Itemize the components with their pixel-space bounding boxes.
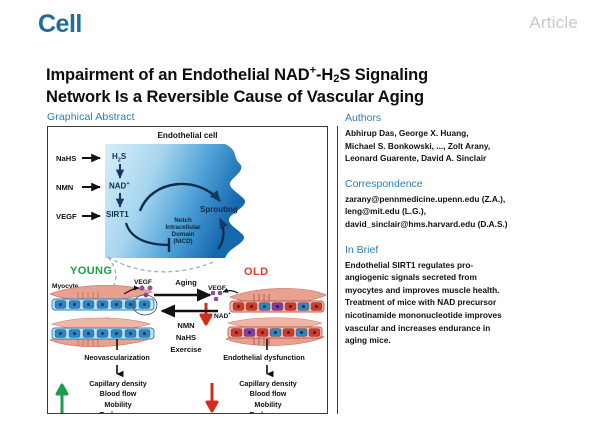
- correspondence-block: Correspondence zarany@pennmedicine.upenn…: [345, 178, 575, 231]
- old-capillary-diagram: [208, 275, 328, 347]
- authors-line-1: Michael S. Bonkowski, ..., Zolt Arany,: [345, 140, 575, 153]
- in-brief-line-2: myocytes and improves muscle health.: [345, 284, 575, 297]
- in-brief-text: Endothelial SIRT1 regulates pro- angioge…: [345, 259, 575, 347]
- young-outcome-list: Capillary density Blood flow Mobility En…: [62, 379, 174, 414]
- title-line-2: Network Is a Reversible Cause of Vascula…: [46, 88, 424, 106]
- old-outcome-3: Endurance: [212, 410, 324, 414]
- label-sprouting: Sprouting: [200, 205, 238, 214]
- in-brief-line-4: nicotinamide mononucleotide improves: [345, 309, 575, 322]
- young-outcome-3: Endurance: [62, 410, 174, 414]
- young-outcome-title: Neovascularization: [52, 353, 182, 362]
- journal-logo: Cell: [38, 12, 82, 37]
- nad-base: NAD: [109, 182, 126, 191]
- young-trend-up-icon: [56, 383, 70, 413]
- label-nicd: Notch Intracellular Domain (NICD): [153, 218, 213, 246]
- in-brief-line-6: aging mice.: [345, 334, 575, 347]
- graphical-abstract-heading: Graphical Abstract: [47, 111, 135, 123]
- correspondence-email-2[interactable]: david_sinclair@hms.harvard.edu (D.A.S.): [345, 218, 575, 231]
- title-subscript-two: 2: [333, 73, 339, 85]
- title-part-a: Impairment of an Endothelial NAD: [46, 66, 310, 84]
- correspondence-heading: Correspondence: [345, 178, 575, 190]
- column-divider: [337, 126, 338, 414]
- correspondence-list: zarany@pennmedicine.upenn.edu (Z.A.), le…: [345, 193, 575, 231]
- page-title: Impairment of an Endothelial NAD+-H2S Si…: [46, 63, 566, 108]
- molecule-label-nad: NAD+: [109, 181, 130, 191]
- h2s-tail: S: [121, 152, 126, 161]
- authors-line-0: Abhirup Das, George X. Huang,: [345, 127, 575, 140]
- old-trend-down-icon: [206, 383, 220, 413]
- title-part-c: S Signaling: [339, 66, 428, 84]
- young-outcome-arrow: [110, 365, 124, 379]
- in-brief-heading: In Brief: [345, 244, 575, 256]
- authors-heading: Authors: [345, 112, 575, 124]
- young-outcome-0: Capillary density: [62, 379, 174, 389]
- authors-block: Authors Abhirup Das, George X. Huang, Mi…: [345, 112, 575, 165]
- title-part-b: -H: [316, 66, 333, 84]
- old-outcome-connector: [260, 339, 274, 353]
- aging-exchange-arrows: [152, 290, 222, 324]
- authors-list: Abhirup Das, George X. Huang, Michael S.…: [345, 127, 575, 165]
- intervention-nmn: NMN: [158, 321, 214, 330]
- intervention-exercise: Exercise: [158, 345, 214, 354]
- nad-sup: +: [126, 181, 129, 187]
- graphical-abstract-figure: Endothelial cell NaHS NMN VEGF: [47, 126, 328, 414]
- in-brief-block: In Brief Endothelial SIRT1 regulates pro…: [345, 244, 575, 347]
- in-brief-line-3: Treatment of mice with NAD precursor: [345, 296, 575, 309]
- nicd-line-4: (NICD): [153, 239, 213, 246]
- old-outcome-title: Endothelial dysfunction: [200, 353, 328, 362]
- correspondence-email-1[interactable]: leng@mit.edu (L.G.),: [345, 205, 575, 218]
- article-type-label: Article: [529, 13, 578, 33]
- old-outcome-1: Blood flow: [212, 389, 324, 399]
- old-outcome-2: Mobility: [212, 400, 324, 410]
- young-outcome-1: Blood flow: [62, 389, 174, 399]
- article-metadata-column: Authors Abhirup Das, George X. Huang, Mi…: [345, 112, 575, 356]
- correspondence-email-0[interactable]: zarany@pennmedicine.upenn.edu (Z.A.),: [345, 193, 575, 206]
- intervention-nahs: NaHS: [158, 333, 214, 342]
- title-line-1: Impairment of an Endothelial NAD+-H2S Si…: [46, 66, 428, 84]
- old-outcome-list: Capillary density Blood flow Mobility En…: [212, 379, 324, 414]
- authors-line-2: Leonard Guarente, David A. Sinclair: [345, 152, 575, 165]
- in-brief-line-0: Endothelial SIRT1 regulates pro-: [345, 259, 575, 272]
- old-outcome-0: Capillary density: [212, 379, 324, 389]
- young-outcome-connector: [110, 339, 124, 353]
- molecule-label-h2s: H2S: [112, 152, 126, 164]
- in-brief-line-1: angiogenic signals secreted from: [345, 271, 575, 284]
- in-brief-line-5: vascular and increases endurance in: [345, 322, 575, 335]
- old-outcome-arrow: [260, 365, 274, 379]
- aging-label: Aging: [158, 278, 214, 287]
- young-outcome-2: Mobility: [62, 400, 174, 410]
- molecule-label-sirt1: SIRT1: [106, 210, 129, 219]
